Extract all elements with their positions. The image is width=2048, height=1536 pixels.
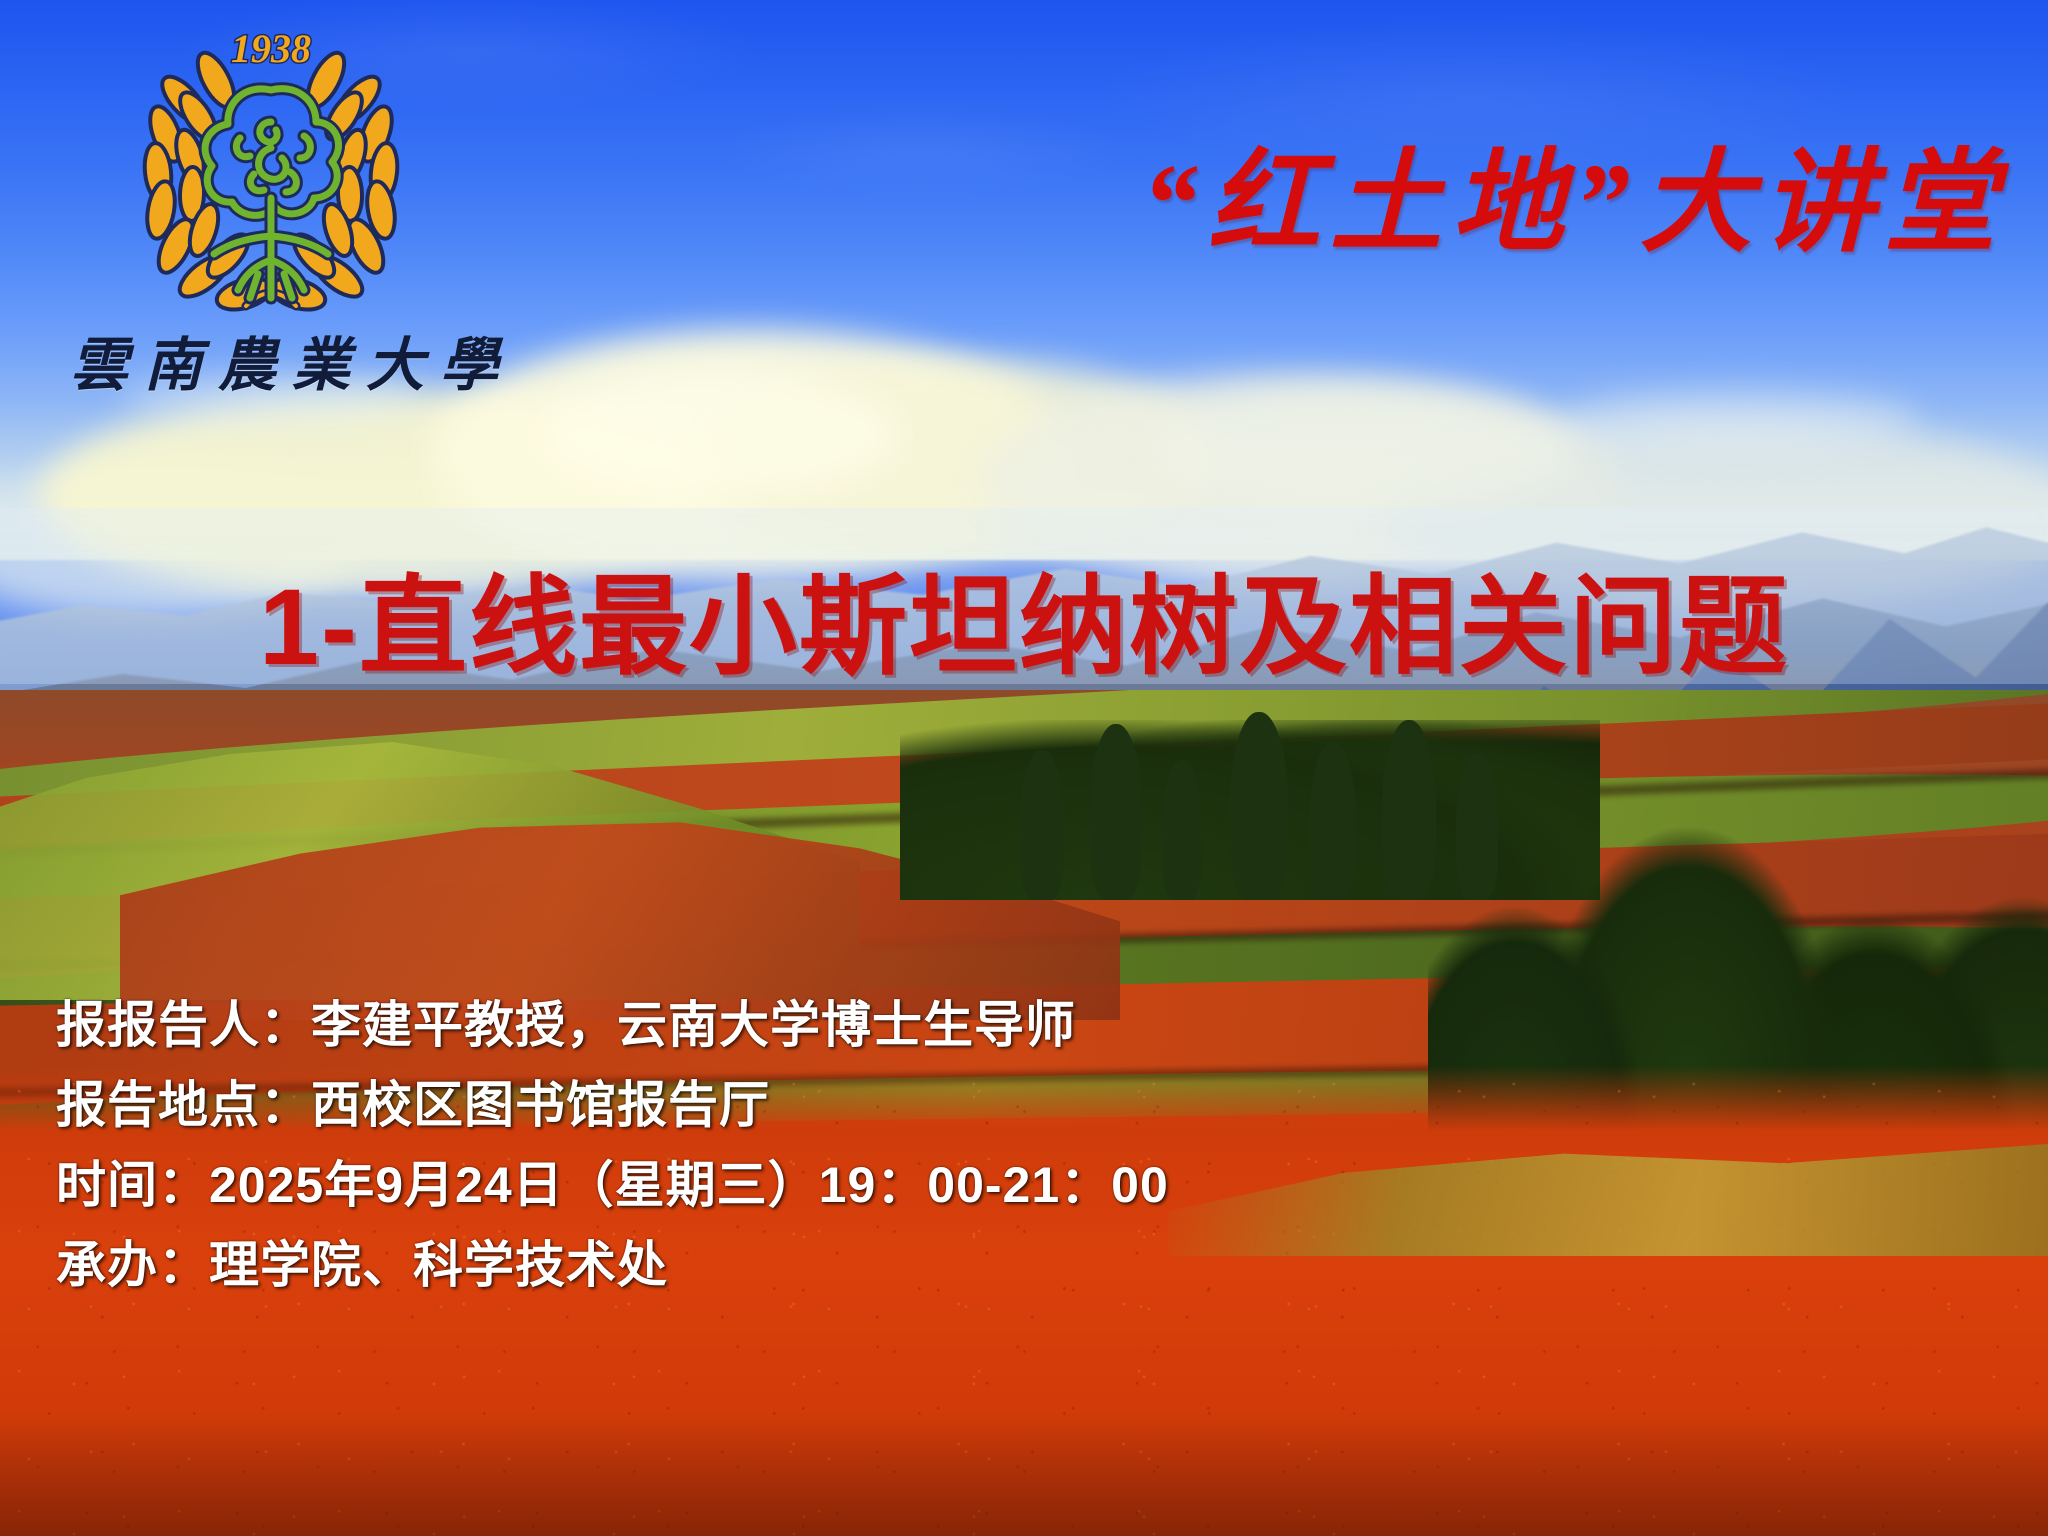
cloud-shape (1560, 390, 1920, 450)
lecture-details: 报报告人：李建平教授，云南大学博士生导师 报告地点：西校区图书馆报告厅 时间：2… (56, 1000, 1616, 1320)
tree (1310, 742, 1356, 900)
wreath-tree-emblem: 1938 (142, 26, 400, 315)
detail-venue: 报告地点：西校区图书馆报告厅 (56, 1080, 1616, 1130)
tree (1020, 750, 1064, 900)
university-name: 雲南農業大學 (70, 318, 490, 398)
tree (1090, 724, 1142, 900)
cloud-shape (540, 370, 900, 500)
lecture-title: 1-直线最小斯坦纳树及相关问题 (0, 540, 2048, 696)
cloud-shape (1150, 390, 1570, 510)
detail-time: 时间：2025年9月24日（星期三）19：00-21：00 (56, 1160, 1616, 1210)
tree (1162, 760, 1202, 900)
svg-text:1938: 1938 (231, 26, 311, 71)
forum-title: “红土地”大讲堂 (1142, 112, 2006, 274)
bottom-vignette (0, 1416, 2048, 1536)
detail-speaker: 报报告人：李建平教授，云南大学博士生导师 (56, 1000, 1616, 1050)
university-logo: 1938 (128, 22, 414, 322)
lecture-poster: 1938 (0, 0, 2048, 1536)
tree (1230, 712, 1288, 900)
detail-host: 承办：理学院、科学技术处 (56, 1240, 1616, 1290)
